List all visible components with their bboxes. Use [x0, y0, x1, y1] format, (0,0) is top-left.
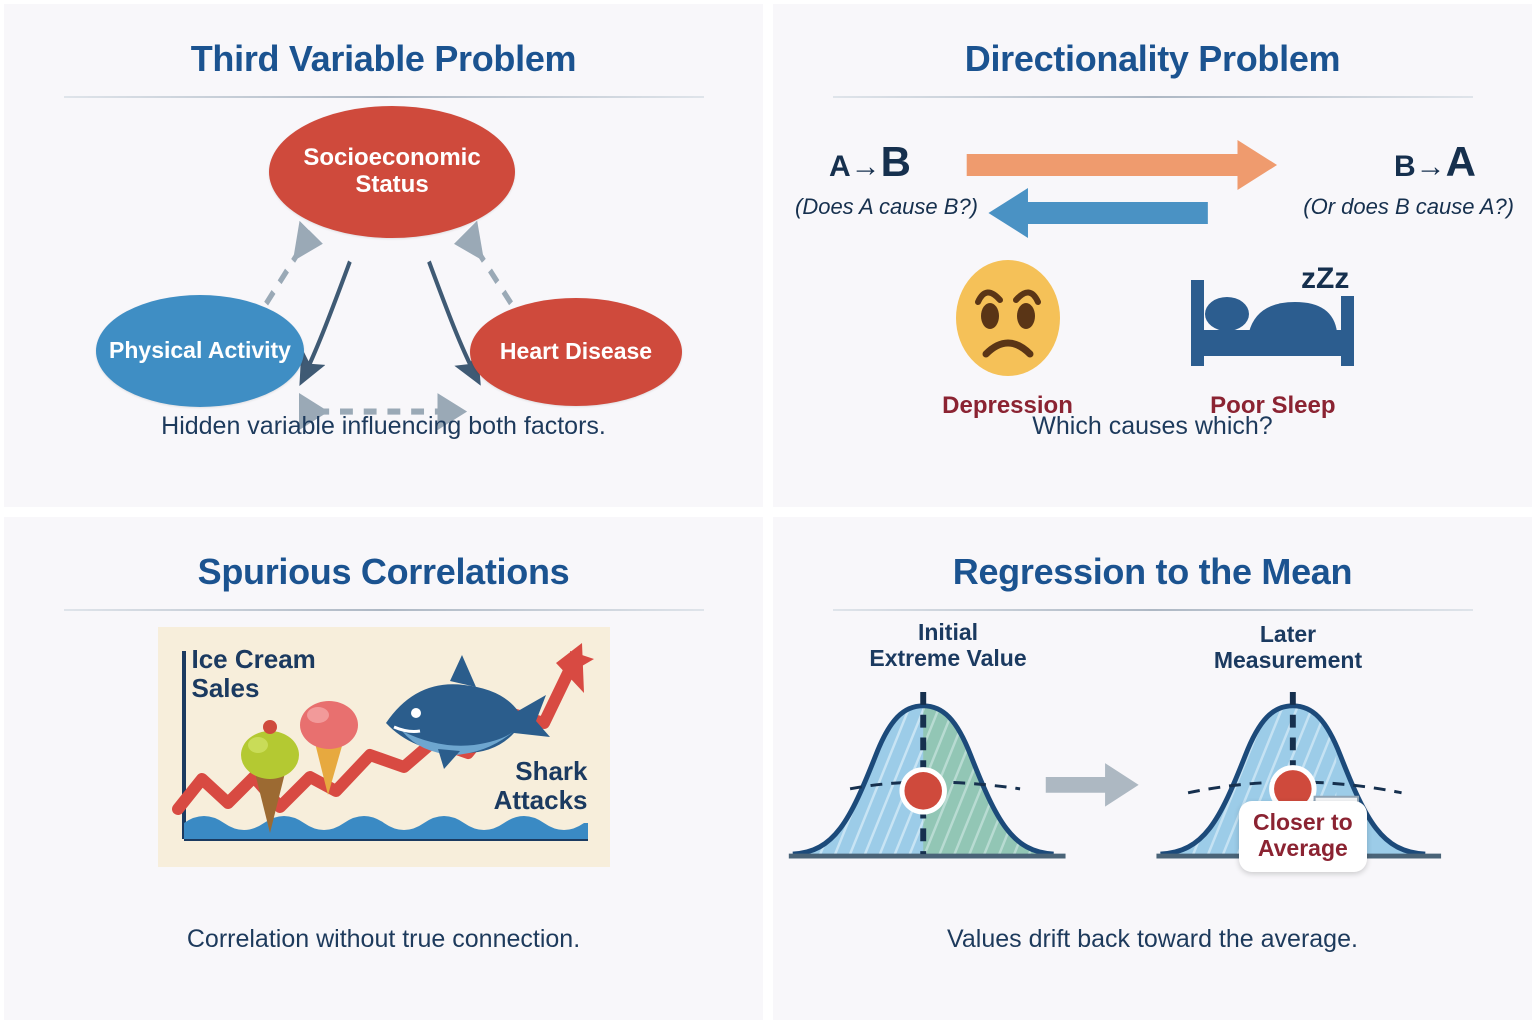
label-line2: Sales: [192, 673, 260, 703]
hypothesis-row: A→B B→A (Does A cause B?) (Or does B cau…: [773, 132, 1532, 252]
label-b: B: [881, 138, 911, 185]
callout-line1: Closer to: [1253, 809, 1353, 835]
label-line1: Ice Cream: [192, 644, 316, 674]
zzz-text: zZz: [1301, 262, 1349, 295]
distribution-curves-svg: [773, 671, 1532, 881]
icon-pair: Depression zZz Poor Sleep: [773, 258, 1532, 420]
label-line1: Later: [1260, 621, 1316, 647]
label-a: A: [1446, 138, 1476, 185]
question-a-causes-b: (Does A cause B?): [795, 194, 978, 220]
panel-grid: Third Variable Problem: [0, 0, 1536, 1024]
node-label: Heart Disease: [500, 339, 652, 365]
panel-regression-to-mean: Regression to the Mean Initial Extreme V…: [773, 517, 1532, 1020]
panel-caption: Correlation without true connection.: [4, 925, 763, 954]
label-ice-cream-sales: Ice Cream Sales: [192, 645, 316, 703]
label-b: B: [1394, 150, 1416, 183]
curve-initial: [789, 692, 1066, 856]
cherry-green: [263, 720, 277, 734]
arrow-b-causes-a: [988, 188, 1207, 238]
label-line2: Attacks: [494, 785, 588, 815]
scoop-pink: [300, 701, 358, 749]
panel-caption: Values drift back toward the average.: [773, 925, 1532, 954]
panel-title: Third Variable Problem: [191, 38, 577, 80]
label-initial-extreme-value: Initial Extreme Value: [833, 619, 1063, 672]
label-line2: Measurement: [1214, 647, 1362, 673]
callout-closer-to-average: Closer to Average: [1239, 801, 1367, 872]
bed-sleep-icon: zZz: [1183, 258, 1363, 382]
diagram-stage: Ice Cream Sales Shark Attacks Correlatio…: [4, 611, 763, 1020]
arrow-glyph: →: [851, 150, 881, 183]
diagram-stage: Socioeconomic Status Physical Activity H…: [4, 98, 763, 507]
diagram-stage: A→B B→A (Does A cause B?) (Or does B cau…: [773, 98, 1532, 507]
panel-caption: Hidden variable influencing both factors…: [4, 412, 763, 441]
node-heart-disease[interactable]: Heart Disease: [470, 298, 682, 406]
sad-face-emoji: [948, 258, 1068, 382]
node-label-line1: Socioeconomic: [303, 144, 480, 171]
arrow-ses-to-heart: [429, 262, 474, 374]
datapoint-initial: [904, 772, 942, 810]
node-label: Socioeconomic Status: [303, 145, 480, 199]
panel-directionality: Directionality Problem A→B B→A (Does A c…: [773, 4, 1532, 507]
panel-third-variable: Third Variable Problem: [4, 4, 763, 507]
icecream-shark-poster: Ice Cream Sales Shark Attacks: [158, 627, 610, 867]
label-line1: Shark: [515, 756, 587, 786]
hypothesis-a-to-b: A→B: [829, 138, 911, 186]
arrow-glyph: →: [1416, 150, 1446, 183]
diagram-stage: Initial Extreme Value Later Measurement: [773, 611, 1532, 1020]
hypothesis-b-to-a: B→A: [1394, 138, 1476, 186]
node-physical-activity[interactable]: Physical Activity: [96, 295, 304, 407]
scoop-green: [241, 731, 299, 779]
callout-line2: Average: [1258, 835, 1348, 861]
panel-spurious-correlations: Spurious Correlations: [4, 517, 763, 1020]
panel-title: Spurious Correlations: [198, 551, 570, 593]
node-label: Physical Activity: [109, 338, 291, 364]
label-line2: Extreme Value: [869, 645, 1026, 671]
label-later-measurement: Later Measurement: [1173, 621, 1403, 674]
label-shark-attacks: Shark Attacks: [494, 757, 588, 815]
shark-icon: [386, 655, 550, 769]
arrow-ses-to-activity: [305, 262, 349, 374]
node-socioeconomic-status[interactable]: Socioeconomic Status: [269, 106, 515, 238]
arrow-a-causes-b: [967, 140, 1277, 190]
depression-group: Depression: [942, 258, 1073, 420]
poor-sleep-group: zZz Poor Sleep: [1183, 258, 1363, 420]
panel-title: Directionality Problem: [965, 38, 1341, 80]
label-a: A: [829, 150, 851, 183]
water-waves: [184, 816, 588, 839]
node-label-line2: Status: [355, 171, 428, 198]
panel-title: Regression to the Mean: [953, 551, 1352, 593]
panel-caption: Which causes which?: [773, 412, 1532, 441]
label-line1: Initial: [918, 619, 978, 645]
transition-arrow: [1046, 763, 1139, 806]
question-b-causes-a: (Or does B cause A?): [1303, 194, 1514, 220]
